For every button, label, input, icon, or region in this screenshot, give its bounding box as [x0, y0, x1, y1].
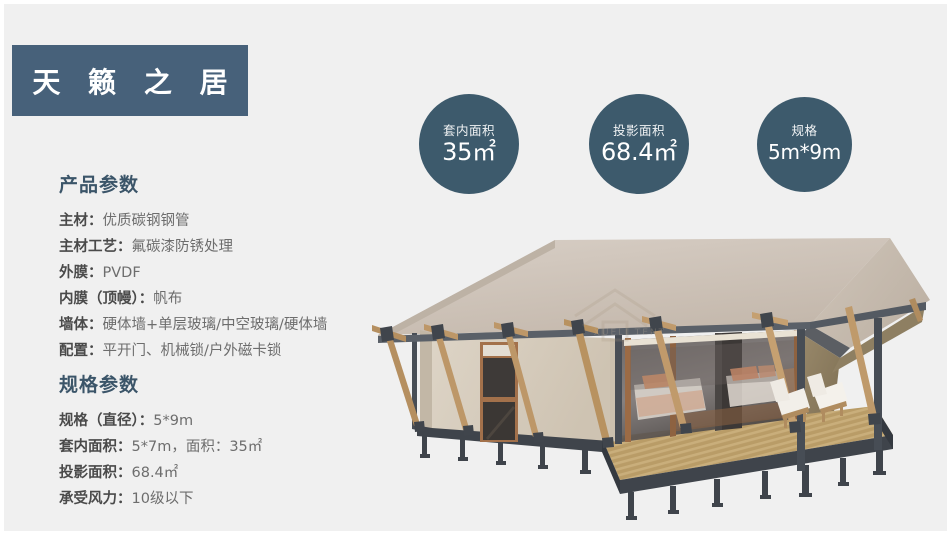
- brace-foot-joint: [868, 413, 881, 425]
- param-row: 配置：平开门、机械锁/户外磁卡锁: [59, 338, 327, 364]
- base-foot: [538, 465, 548, 469]
- deck-foot: [626, 516, 637, 520]
- brace-foot-joint: [463, 425, 474, 436]
- roof-front-slope: [378, 238, 890, 335]
- deck-foot: [668, 510, 679, 514]
- base-leg: [498, 440, 503, 463]
- deck-leg: [628, 492, 634, 518]
- brace-joint: [649, 316, 663, 332]
- window-glass: [483, 358, 515, 397]
- param-key: 主材工艺：: [59, 239, 132, 255]
- badge-value: 5m*9m: [768, 139, 841, 166]
- param-row: 主材工艺：氟碳漆防锈处理: [59, 234, 327, 260]
- brace-foot-joint: [414, 421, 425, 432]
- param-key: 承受风力：: [59, 491, 132, 507]
- param-key: 内膜（顶幔）：: [59, 291, 153, 307]
- wall-left-end: [420, 330, 432, 428]
- param-value: 5*9m: [153, 413, 193, 429]
- param-key: 墙体：: [59, 317, 103, 333]
- param-key: 外膜：: [59, 265, 103, 281]
- brace-joint: [501, 322, 515, 338]
- badge-value: 35㎡: [442, 139, 496, 166]
- param-row: 规格（直径）：5*9m: [59, 408, 262, 434]
- brace-joint: [571, 319, 585, 335]
- param-value: 68.4㎡: [132, 465, 179, 481]
- brace-foot-joint: [680, 423, 692, 434]
- door-glass: [483, 402, 515, 440]
- tent-illustration: XUELI TENT: [370, 230, 950, 530]
- spec-parameters-heading: 规格参数: [59, 370, 262, 397]
- deck-foot: [760, 495, 771, 499]
- brace-joint: [760, 312, 774, 328]
- badge-projected-area: 投影面积 68.4㎡: [589, 94, 689, 194]
- steel-column-right: [874, 318, 882, 450]
- base-foot: [458, 457, 468, 461]
- base-foot: [580, 470, 591, 474]
- spec-parameters-block: 规格参数 规格（直径）：5*9m 套内面积：5*7m，面积：35㎡ 投影面积：6…: [59, 370, 262, 512]
- param-row: 墙体：硬体墙+单层玻璃/中空玻璃/硬体墙: [59, 312, 327, 338]
- product-spec-page: 天 籁 之 居 套内面积 35㎡ 投影面积 68.4㎡ 规格 5m*9m 产品参…: [0, 0, 950, 534]
- deck-foot: [799, 493, 812, 497]
- badge-label: 套内面积: [443, 123, 495, 138]
- param-value: 5*7m，面积：35㎡: [132, 439, 263, 455]
- param-value: 硬体墙+单层玻璃/中空玻璃/硬体墙: [103, 317, 328, 333]
- steel-column: [615, 334, 622, 444]
- badge-interior-area: 套内面积 35㎡: [419, 94, 519, 194]
- badge-label: 投影面积: [613, 123, 665, 138]
- param-value: 平开门、机械锁/户外磁卡锁: [103, 343, 282, 359]
- brace-joint: [431, 324, 445, 340]
- badge-dimensions: 规格 5m*9m: [757, 97, 852, 192]
- param-row: 主材：优质碳钢钢管: [59, 208, 327, 234]
- base-foot: [420, 454, 430, 458]
- badge-label: 规格: [791, 123, 817, 138]
- deck-foot: [873, 471, 886, 475]
- deck-leg: [762, 471, 768, 497]
- param-key: 规格（直径）：: [59, 413, 153, 429]
- param-value: 帆布: [153, 291, 182, 307]
- page-title: 天 籁 之 居: [23, 61, 236, 101]
- base-leg: [460, 437, 465, 459]
- lounger-leg: [840, 406, 843, 416]
- badge-value: 68.4㎡: [601, 139, 677, 166]
- param-row: 内膜（顶幔）：帆布: [59, 286, 327, 312]
- base-leg: [582, 446, 588, 472]
- base-leg: [540, 443, 545, 467]
- param-key: 配置：: [59, 343, 103, 359]
- base-foot: [496, 461, 506, 465]
- brace-foot-joint: [789, 421, 801, 433]
- param-value: 优质碳钢钢管: [103, 213, 190, 229]
- brace-joint: [380, 326, 394, 342]
- param-key: 套内面积：: [59, 439, 132, 455]
- param-key: 投影面积：: [59, 465, 132, 481]
- deck-foot: [838, 482, 849, 486]
- lounger-leg: [803, 412, 806, 422]
- product-parameters-heading: 产品参数: [59, 170, 327, 197]
- deck-leg: [714, 479, 720, 505]
- param-key: 主材：: [59, 213, 103, 229]
- base-leg: [422, 434, 427, 456]
- tent-render-svg: [370, 230, 950, 530]
- deck-foot: [712, 503, 723, 507]
- param-row: 投影面积：68.4㎡: [59, 460, 262, 486]
- param-row: 承受风力：10级以下: [59, 486, 262, 512]
- param-row: 套内面积：5*7m，面积：35㎡: [59, 434, 262, 460]
- product-parameters-block: 产品参数 主材：优质碳钢钢管 主材工艺：氟碳漆防锈处理 外膜：PVDF 内膜（顶…: [59, 170, 327, 364]
- param-value: PVDF: [103, 265, 141, 281]
- param-row: 外膜：PVDF: [59, 260, 327, 286]
- deck-leg: [670, 486, 676, 512]
- deck-leg: [840, 458, 846, 484]
- brace-foot-joint: [602, 437, 614, 448]
- param-value: 氟碳漆防锈处理: [132, 239, 234, 255]
- lounger-leg: [784, 418, 787, 428]
- param-value: 10级以下: [132, 491, 194, 507]
- title-banner: 天 籁 之 居: [12, 45, 248, 116]
- brace-foot-joint: [533, 432, 544, 443]
- lounger-leg: [822, 412, 825, 422]
